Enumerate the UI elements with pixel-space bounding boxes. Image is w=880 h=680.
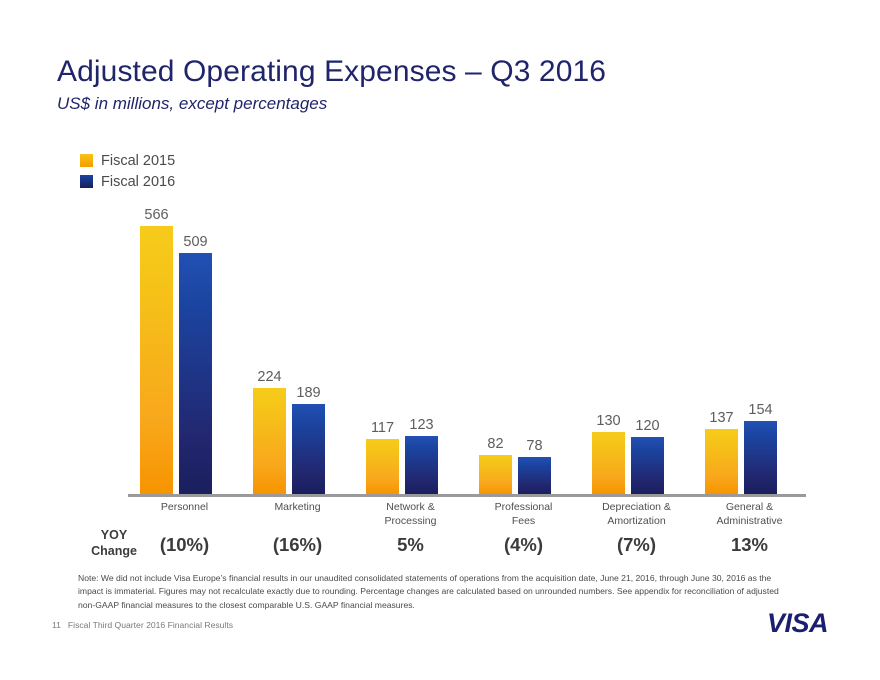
- legend-swatch-icon-fiscal-2015: [80, 154, 93, 167]
- yoy-change-value: (7%): [580, 534, 693, 556]
- legend-item-fiscal-2016[interactable]: Fiscal 2016: [80, 171, 175, 192]
- bar-fiscal-2015[interactable]: 130: [592, 432, 625, 494]
- legend-swatch-icon-fiscal-2016: [80, 175, 93, 188]
- category-label: Depreciation &Amortization: [580, 501, 693, 528]
- page-subtitle: US$ in millions, except percentages: [57, 94, 606, 114]
- title-block: Adjusted Operating Expenses – Q3 2016 US…: [57, 55, 606, 114]
- bar-fiscal-2016[interactable]: 123: [405, 436, 438, 494]
- bar-fiscal-2016[interactable]: 120: [631, 437, 664, 494]
- bar-group: 117123: [354, 200, 467, 494]
- category-label: ProfessionalFees: [467, 501, 580, 528]
- yoy-change-value: (4%): [467, 534, 580, 556]
- bar-fiscal-2015[interactable]: 224: [253, 388, 286, 494]
- bar-fiscal-2016[interactable]: 189: [292, 404, 325, 494]
- x-axis-line: [128, 494, 806, 497]
- bar-value-label: 154: [731, 402, 791, 418]
- footnote-text: Note: We did not include Visa Europe’s f…: [78, 572, 796, 612]
- bar-group: 566509: [128, 200, 241, 494]
- yoy-change-values: (10%)(16%)5%(4%)(7%)13%: [128, 534, 806, 562]
- bar-group: 224189: [241, 200, 354, 494]
- bar-fiscal-2016[interactable]: 509: [179, 253, 212, 494]
- yoy-change-value: (16%): [241, 534, 354, 556]
- bar-fiscal-2015[interactable]: 566: [140, 226, 173, 494]
- bar-value-label: 120: [618, 418, 678, 434]
- bar-chart: 5665092241891171238278130120137154: [128, 200, 806, 498]
- category-label: Personnel: [128, 501, 241, 515]
- bar-value-label: 123: [392, 417, 452, 433]
- bar-value-label: 78: [505, 438, 565, 454]
- chart-legend: Fiscal 2015 Fiscal 2016: [80, 150, 175, 192]
- bar-value-label: 224: [240, 369, 300, 385]
- category-label: Network &Processing: [354, 501, 467, 528]
- legend-item-fiscal-2015[interactable]: Fiscal 2015: [80, 150, 175, 171]
- bar-group: 8278: [467, 200, 580, 494]
- page-title: Adjusted Operating Expenses – Q3 2016: [57, 55, 606, 88]
- category-label: Marketing: [241, 501, 354, 515]
- bar-group: 130120: [580, 200, 693, 494]
- legend-label-fiscal-2015: Fiscal 2015: [101, 153, 175, 169]
- legend-label-fiscal-2016: Fiscal 2016: [101, 174, 175, 190]
- slide-footer: 11 Fiscal Third Quarter 2016 Financial R…: [52, 620, 233, 630]
- yoy-change-value: 13%: [693, 534, 806, 556]
- yoy-change-value: (10%): [128, 534, 241, 556]
- bar-fiscal-2016[interactable]: 154: [744, 421, 777, 494]
- x-axis-category-labels: PersonnelMarketingNetwork &ProcessingPro…: [128, 501, 806, 537]
- chart-plot-area: 5665092241891171238278130120137154: [128, 200, 806, 497]
- category-label: General &Administrative: [693, 501, 806, 528]
- bar-group: 137154: [693, 200, 806, 494]
- visa-logo: VISA: [767, 608, 828, 639]
- yoy-change-value: 5%: [354, 534, 467, 556]
- bar-fiscal-2015[interactable]: 82: [479, 455, 512, 494]
- bar-value-label: 189: [279, 385, 339, 401]
- footer-label: Fiscal Third Quarter 2016 Financial Resu…: [68, 620, 233, 630]
- bar-fiscal-2016[interactable]: 78: [518, 457, 551, 494]
- bar-fiscal-2015[interactable]: 137: [705, 429, 738, 494]
- bar-value-label: 566: [127, 207, 187, 223]
- yoy-label-line1: YOY: [101, 528, 127, 542]
- page-number: 11: [52, 620, 61, 630]
- bar-value-label: 509: [166, 234, 226, 250]
- bar-fiscal-2015[interactable]: 117: [366, 439, 399, 494]
